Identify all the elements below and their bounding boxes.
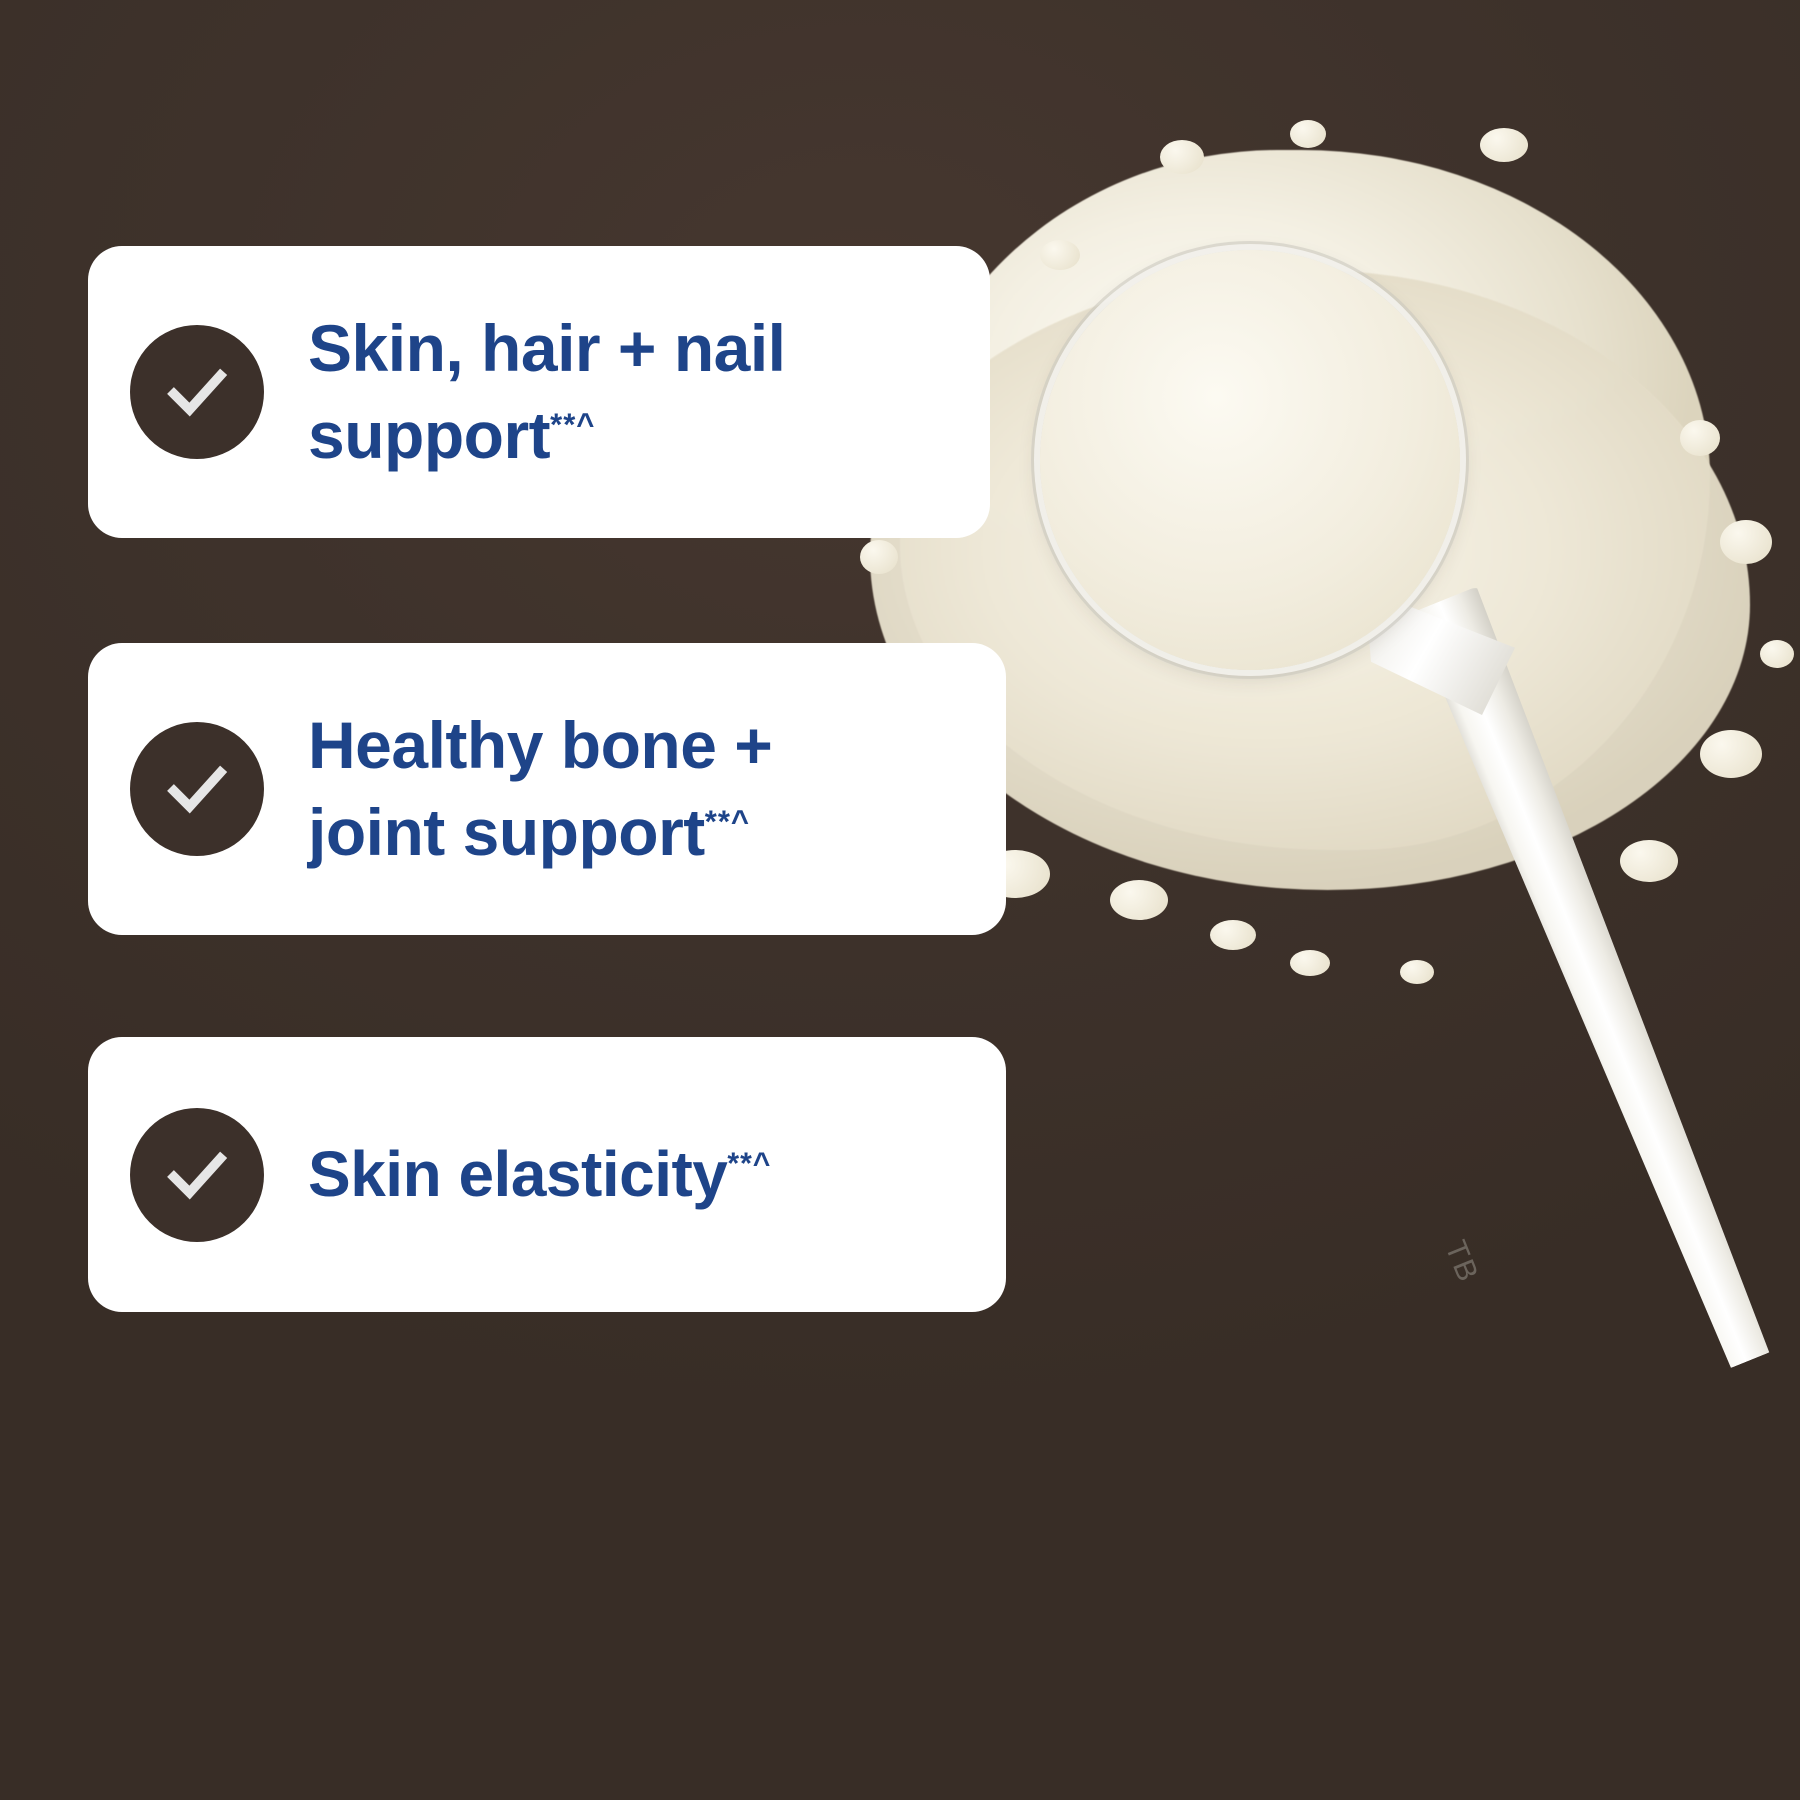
benefit-superscript: **^ (550, 407, 595, 442)
check-icon (130, 1108, 264, 1242)
benefit-superscript: **^ (727, 1148, 771, 1181)
benefit-card-list: Skin, hair + nail support**^ Healthy bon… (0, 0, 1800, 1800)
benefit-label: Healthy bone + joint support**^ (308, 702, 772, 876)
benefit-line-2: support (308, 398, 550, 472)
benefit-card[interactable]: Skin elasticity**^ (88, 1037, 1006, 1312)
benefit-line-1: Healthy bone + (308, 708, 772, 782)
check-icon (130, 325, 264, 459)
benefit-card[interactable]: Healthy bone + joint support**^ (88, 643, 1006, 935)
benefit-card[interactable]: Skin, hair + nail support**^ (88, 246, 990, 538)
benefit-label: Skin, hair + nail support**^ (308, 305, 786, 479)
benefit-line-1: Skin elasticity (308, 1138, 727, 1210)
benefit-line-2: joint support (308, 795, 705, 869)
promo-graphic: TB Skin, hair + nail support**^ Healthy … (0, 0, 1800, 1800)
check-icon (130, 722, 264, 856)
benefit-superscript: **^ (705, 804, 750, 839)
benefit-label: Skin elasticity**^ (308, 1132, 771, 1216)
benefit-line-1: Skin, hair + nail (308, 311, 786, 385)
